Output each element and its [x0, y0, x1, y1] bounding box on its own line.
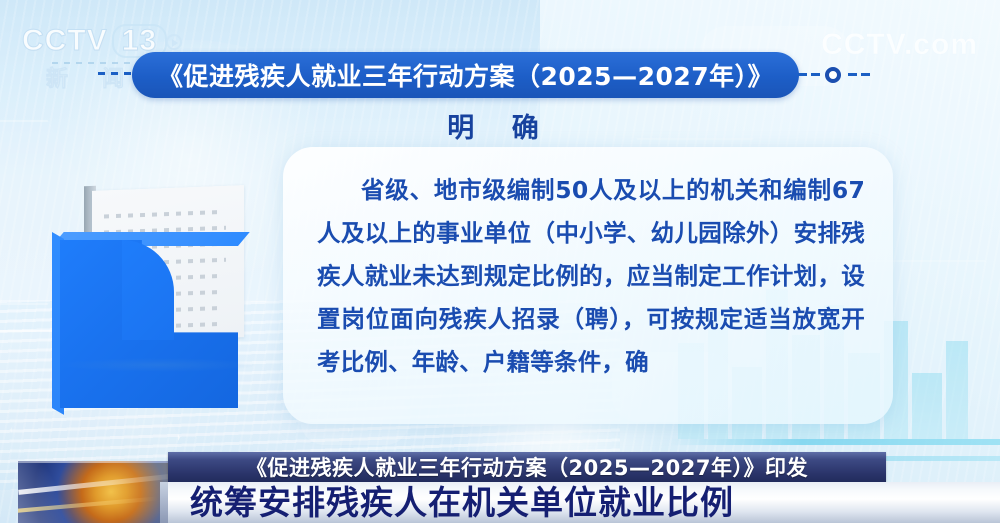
content-card: 省级、地市级编制50人及以上的机关和编制67人及以上的事业单位（中小学、幼儿园除… — [283, 147, 893, 424]
globe-streak-1 — [18, 472, 168, 495]
document-folder-illustration — [52, 186, 267, 416]
news-globe-graphic — [18, 461, 168, 523]
folder-body — [52, 232, 238, 408]
title-leading-dashes — [98, 72, 134, 75]
lower-third-subtitle-text: 《促进残疾人就业三年行动方案（2025—2027年）》印发 — [246, 452, 808, 482]
document-title-pill: 《促进残疾人就业三年行动方案（2025—2027年）》 — [132, 52, 799, 98]
background-city-baseline — [670, 439, 1000, 445]
title-dot-marker — [825, 67, 841, 83]
content-card-body: 省级、地市级编制50人及以上的机关和编制67人及以上的事业单位（中小学、幼儿园除… — [317, 169, 865, 384]
lower-third-headline-text: 统筹安排残疾人在机关单位就业比例 — [190, 482, 734, 523]
folder-curve — [122, 240, 174, 340]
dash-segment-d — [861, 73, 870, 76]
title-row: 《促进残疾人就业三年行动方案（2025—2027年）》 — [0, 52, 1000, 98]
dash-segment-b — [811, 73, 820, 76]
lower-third-subtitle-bar: 《促进残疾人就业三年行动方案（2025—2027年）》印发 — [168, 452, 886, 482]
dash-segment-c — [848, 73, 857, 76]
title-trailing-dashes — [798, 73, 870, 77]
globe-streak-2 — [18, 496, 158, 513]
dash-segment-a — [798, 73, 807, 76]
lower-third-headline-bar: 统筹安排残疾人在机关单位就业比例 — [168, 482, 1000, 523]
folder-shadow — [58, 358, 258, 372]
document-title-text: 《促进残疾人就业三年行动方案（2025—2027年）》 — [158, 57, 773, 93]
play-icon — [166, 34, 182, 50]
section-keyword: 明 确 — [0, 106, 1000, 145]
broadcast-graphic-stage: CCTV13 新 闻 CCTV.com 《促进残疾人就业三年行动方案（2025—… — [0, 0, 1000, 523]
